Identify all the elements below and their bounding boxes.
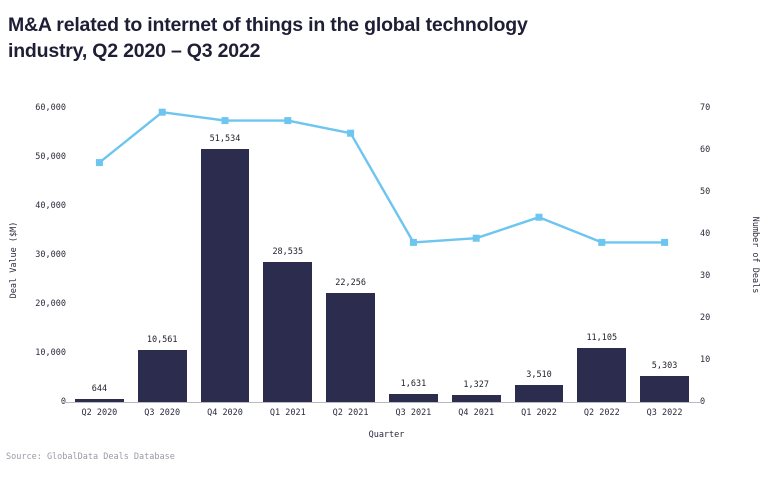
x-axis-tick: Q3 2020	[144, 408, 180, 418]
x-axis-tick: Q3 2022	[647, 408, 683, 418]
x-axis-tick: Q4 2020	[207, 408, 243, 418]
bar-value-label: 28,535	[272, 247, 303, 257]
chart-page: M&A related to internet of things in the…	[0, 0, 773, 480]
chart-title: M&A related to internet of things in the…	[8, 12, 708, 64]
bar-value-label: 22,256	[335, 278, 366, 288]
bar-value-label: 10,561	[147, 335, 178, 345]
bar[interactable]	[263, 262, 312, 402]
bar[interactable]	[389, 394, 438, 402]
x-axis-tick: Q1 2021	[270, 408, 306, 418]
bar-value-label: 644	[92, 384, 107, 394]
y-axis-right: 010203040506070	[700, 0, 740, 480]
bar-value-label: 11,105	[586, 333, 617, 343]
x-axis-tick: Q2 2022	[584, 408, 620, 418]
x-axis-tick: Q2 2021	[333, 408, 369, 418]
y-axis-right-tick: 0	[700, 397, 734, 407]
axis-baseline	[62, 402, 702, 403]
x-axis-title: Quarter	[0, 430, 773, 440]
bar-value-label: 5,303	[652, 361, 678, 371]
bar[interactable]	[515, 385, 564, 402]
y-axis-right-tick: 40	[700, 229, 734, 239]
y-axis-right-tick: 50	[700, 187, 734, 197]
y-axis-right-tick: 20	[700, 313, 734, 323]
y-axis-left-tick: 10,000	[4, 348, 66, 358]
y-axis-left-tick: 0	[4, 397, 66, 407]
bar-value-label: 1,631	[401, 379, 427, 389]
bar[interactable]	[326, 293, 375, 402]
bar[interactable]	[452, 395, 501, 402]
bar[interactable]	[75, 399, 124, 402]
x-axis-tick: Q4 2021	[458, 408, 494, 418]
bar-value-label: 1,327	[463, 380, 489, 390]
y-axis-left-tick: 50,000	[4, 152, 66, 162]
bar-value-label: 51,534	[210, 134, 241, 144]
bar[interactable]	[138, 350, 187, 402]
y-axis-left-title: Deal Value ($M)	[9, 200, 19, 320]
bar[interactable]	[201, 149, 250, 402]
x-axis-tick: Q1 2022	[521, 408, 557, 418]
x-axis-tick: Q2 2020	[81, 408, 117, 418]
y-axis-right-tick: 70	[700, 103, 734, 113]
y-axis-right-tick: 30	[700, 271, 734, 281]
source-note: Source: GlobalData Deals Database	[6, 452, 175, 462]
bar[interactable]	[577, 348, 626, 402]
y-axis-right-tick: 60	[700, 145, 734, 155]
y-axis-right-tick: 10	[700, 355, 734, 365]
y-axis-right-title: Number of Deals	[750, 195, 760, 315]
x-axis-tick: Q3 2021	[395, 408, 431, 418]
y-axis-left-tick: 60,000	[4, 103, 66, 113]
bar-value-label: 3,510	[526, 370, 552, 380]
bar[interactable]	[640, 376, 689, 402]
